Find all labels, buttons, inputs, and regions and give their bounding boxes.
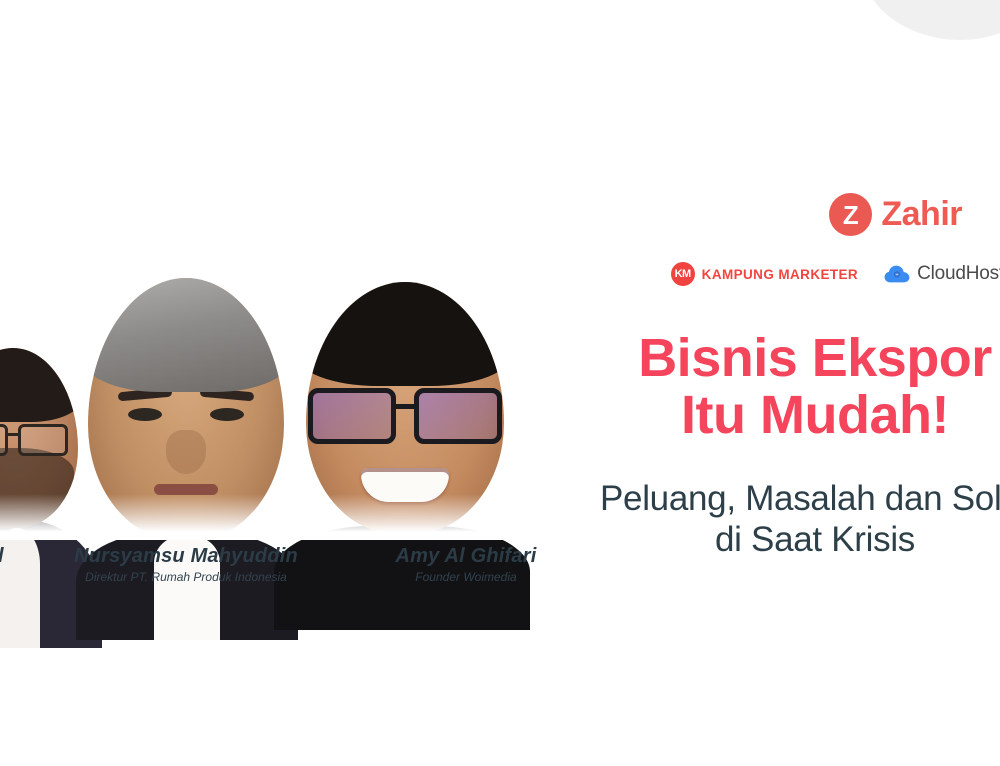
page-subtitle: Peluang, Masalah dan Solusi di Saat Kris… <box>600 478 1000 561</box>
speaker-3-glasses-bridge <box>394 404 416 409</box>
kampung-marketer-wordmark: KAMPUNG MARKETER <box>702 267 858 282</box>
speaker-photo-group <box>0 180 560 540</box>
speaker-role: Founder Woimedia <box>352 570 580 584</box>
speaker-2-nose <box>166 430 206 474</box>
speaker-3-smile <box>361 468 449 502</box>
speaker-2-eye-right <box>210 408 244 421</box>
speaker-2-face <box>88 278 284 540</box>
subheadline-line-1: Peluang, Masalah dan Solusi <box>600 478 1000 519</box>
speaker-1-glasses-bridge <box>6 433 20 436</box>
speaker-3-hair <box>306 282 504 386</box>
zahir-mark-icon: Z <box>829 193 872 236</box>
headline-line-2: Itu Mudah! <box>600 387 1000 444</box>
kampung-marketer-logo: KM KAMPUNG MARKETER <box>671 262 858 286</box>
zahir-logo: Z Zahir <box>829 193 962 236</box>
page-title: Bisnis Ekspor Itu Mudah! <box>600 330 1000 443</box>
speaker-1-face <box>0 348 78 528</box>
cloud-icon <box>884 264 910 284</box>
speaker-3-lens-left <box>308 388 396 444</box>
zahir-wordmark: Zahir <box>881 195 962 234</box>
speaker-name: Nursyamsu Mahyuddin <box>38 545 334 568</box>
speaker-caption-3: Amy Al Ghifari Founder Woimedia <box>352 545 580 584</box>
cloudhost-logo: CloudHost <box>884 263 1000 285</box>
cloudhost-wordmark: CloudHost <box>917 263 1000 285</box>
eyeglasses-icon <box>308 388 502 434</box>
speaker-caption-2: Nursyamsu Mahyuddin Direktur PT. Rumah P… <box>38 545 334 584</box>
speaker-photo-2 <box>78 278 296 540</box>
headline-line-1: Bisnis Ekspor <box>600 330 1000 387</box>
speaker-1-hair <box>0 348 78 422</box>
speaker-2-mouth <box>154 484 218 495</box>
km-badge-icon: KM <box>671 262 695 286</box>
speaker-1-lens-left <box>0 424 8 456</box>
poster-text-column: Z Zahir KM KAMPUNG MARKETER CloudHost Bi… <box>600 0 1000 766</box>
subheadline-line-2: di Saat Krisis <box>600 519 1000 560</box>
partner-logo-row: KM KAMPUNG MARKETER CloudHost <box>671 262 1000 286</box>
speaker-photo-3 <box>290 282 522 534</box>
speaker-2-eye-left <box>128 408 162 421</box>
speaker-role: Direktur PT. Rumah Produk Indonesia <box>38 570 334 584</box>
speaker-1-lens-right <box>18 424 68 456</box>
speaker-photo-1 <box>0 348 78 528</box>
speaker-3-lens-right <box>414 388 502 444</box>
speaker-3-face <box>306 282 504 534</box>
eyeglasses-icon <box>0 424 70 450</box>
speaker-captions: il Nursyamsu Mahyuddin Direktur PT. Ruma… <box>0 543 600 605</box>
speaker-2-hair <box>88 278 284 392</box>
poster-canvas: il Nursyamsu Mahyuddin Direktur PT. Ruma… <box>0 0 1000 766</box>
speaker-1-beard <box>0 448 74 528</box>
speaker-name: Amy Al Ghifari <box>352 545 580 568</box>
